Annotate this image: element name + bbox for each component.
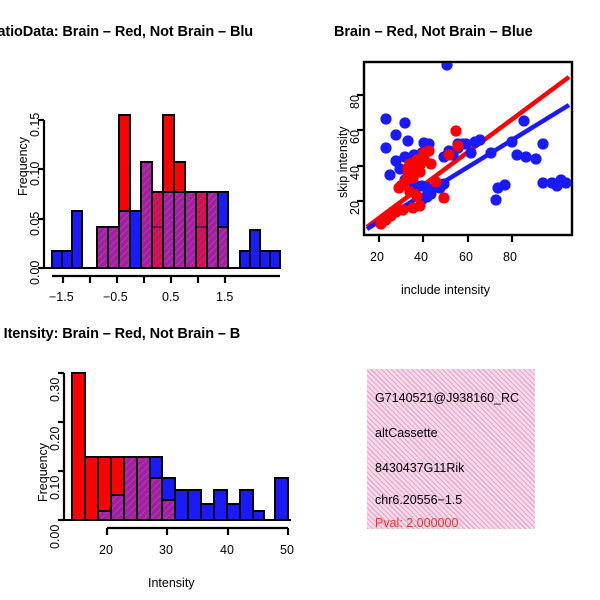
intensity-x-tick-3: 50 (280, 543, 294, 557)
ratio-histogram-y-axis (38, 120, 44, 268)
scatter-y-tick-0: 20 (348, 201, 362, 215)
scatter-x-tick-1: 40 (414, 250, 428, 264)
intensity-y-tick-1: 0.10 (48, 476, 62, 500)
ratio-y-tick-0: 0.00 (28, 261, 42, 285)
info-line-gene-symbol: 8430437G11Rik (375, 461, 464, 475)
intensity-x-tick-1: 30 (159, 543, 173, 557)
scatter-y-axis-label: skip intensity (336, 126, 350, 198)
scatter-x-tick-2: 60 (459, 250, 473, 264)
ratio-y-axis-label: Frequency (16, 137, 30, 196)
scatter-y-tick-1: 40 (348, 166, 362, 180)
ratio-y-tick-2: 0.10 (28, 162, 42, 186)
ratio-y-tick-1: 0.05 (28, 212, 42, 236)
scatter-x-axis-label: include intensity (401, 283, 490, 297)
info-line-probe-id: G7140521@J938160_RC (375, 391, 519, 405)
ratio-histogram-plot (0, 52, 300, 302)
scatter-x-tick-3: 80 (503, 250, 517, 264)
scatter-y-tick-2: 60 (348, 130, 362, 144)
intensity-x-tick-2: 40 (220, 543, 234, 557)
intensity-histogram-bars (72, 373, 288, 520)
intensity-y-tick-0: 0.00 (48, 525, 62, 549)
intensity-y-tick-2: 0.20 (48, 427, 62, 451)
gene-info-box: G7140521@J938160_RC altCassette 8430437G… (367, 369, 535, 529)
scatter-y-tick-3: 80 (348, 95, 362, 109)
scatter-title: Brain – Red, Not Brain – Blue (334, 24, 533, 40)
intensity-histogram-x-axis (107, 528, 288, 535)
intensity-histogram-title: ne Itensity: Brain – Red, Not Brain – B (0, 326, 240, 342)
info-line-locus: chr6.20556−1.5 (375, 493, 462, 507)
intensity-y-axis-label: Frequency (36, 443, 50, 502)
panel-ratio-histogram: RatioData: Brain – Red, Not Brain – Blu (0, 0, 300, 310)
scatter-x-tick-0: 20 (370, 250, 384, 264)
ratio-histogram-x-axis (52, 276, 280, 283)
info-line-pvalue: Pval: 2.000000 (375, 516, 458, 529)
intensity-x-tick-0: 20 (99, 543, 113, 557)
panel-scatter: Brain – Red, Not Brain – Blue (300, 0, 600, 310)
ratio-histogram-title: RatioData: Brain – Red, Not Brain – Blu (0, 24, 253, 40)
intensity-y-tick-3: 0.30 (48, 378, 62, 402)
info-line-event-type: altCassette (375, 426, 438, 440)
ratio-histogram-bars (52, 115, 280, 268)
intensity-x-axis-label: Intensity (148, 576, 195, 590)
panel-intensity-histogram: ne Itensity: Brain – Red, Not Brain – B (0, 300, 300, 600)
ratio-y-tick-3: 0.15 (28, 113, 42, 137)
figure-canvas: RatioData: Brain – Red, Not Brain – Blu (0, 0, 600, 600)
